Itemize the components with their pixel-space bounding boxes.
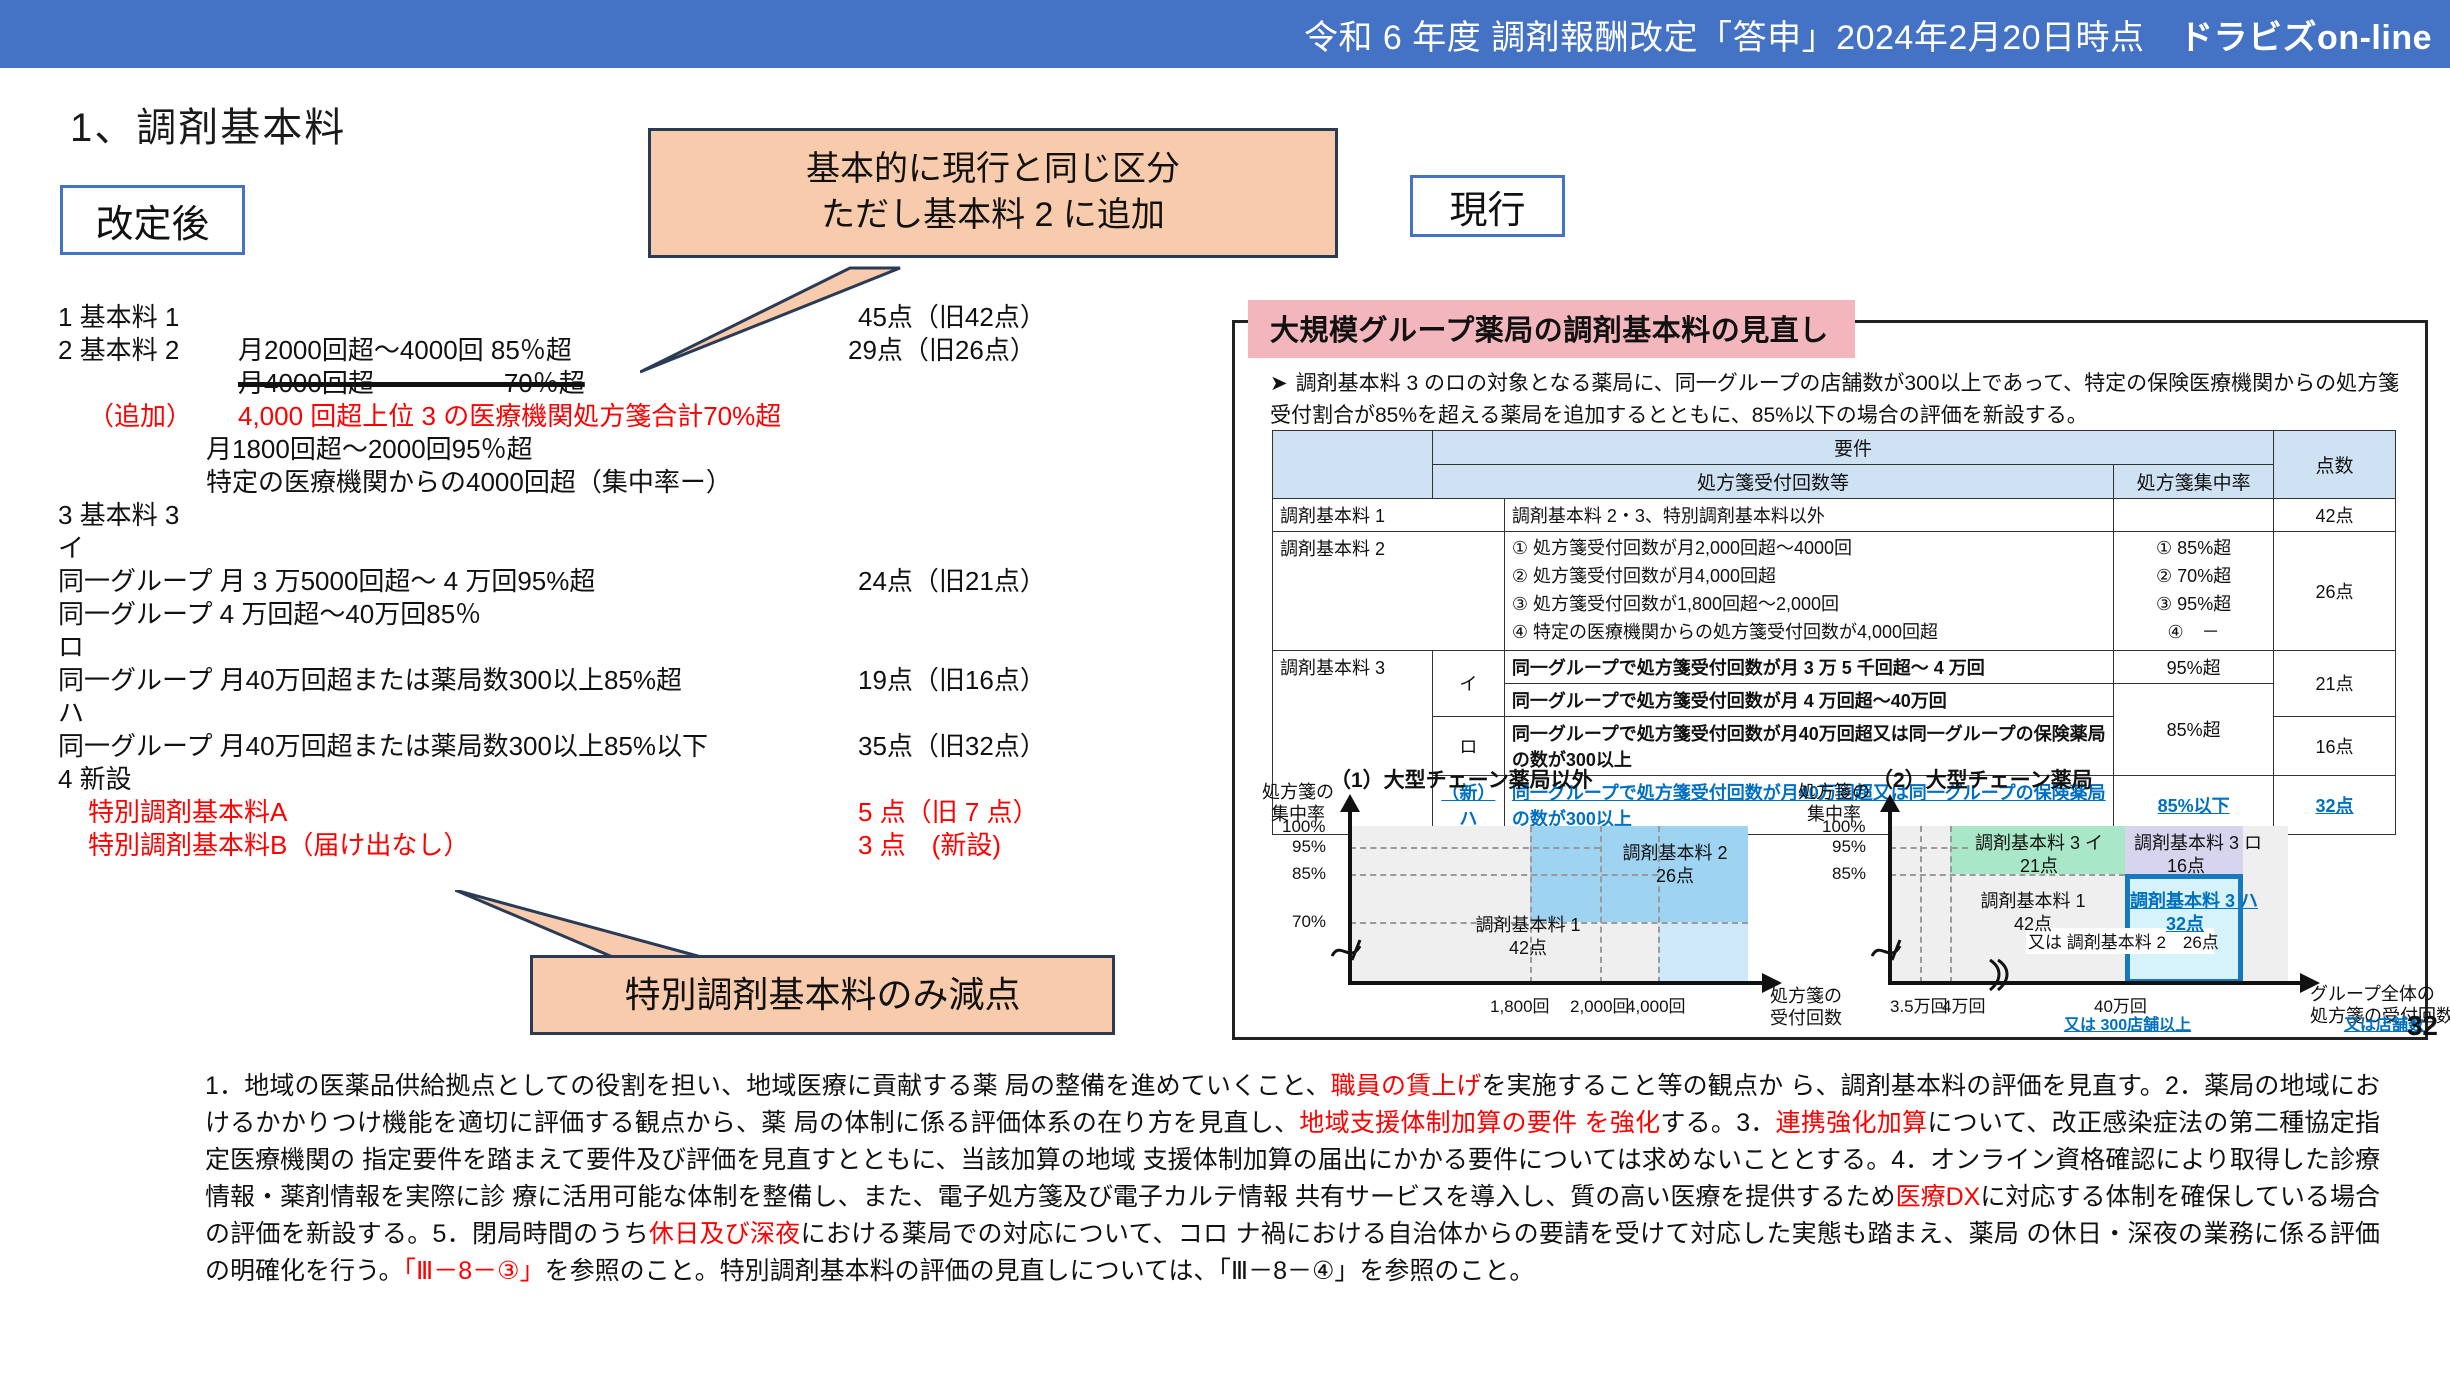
list-item: 特定の医療機関からの4000回超（集中率ー） bbox=[58, 462, 1188, 495]
region-label-3ha: 調剤基本料 3 ハ32点 bbox=[2130, 890, 2240, 935]
region-label-2: 調剤基本料 226点 bbox=[1610, 842, 1740, 887]
row-rate: 95%超 bbox=[2114, 650, 2274, 683]
th-requirement: 要件 bbox=[1432, 431, 2273, 465]
footer-highlight: 「Ⅲ－8－③」 bbox=[404, 1257, 545, 1285]
list-item: イ bbox=[58, 528, 1188, 561]
xtick: 3.5万回 bbox=[1890, 992, 1948, 1017]
chart1-title: （1）大型チェーン薬局以外 bbox=[1330, 764, 1593, 794]
row-name: 調剤基本料 1 bbox=[1273, 499, 1505, 532]
xtick: 1,800回 bbox=[1490, 992, 1550, 1017]
fee-list: 1 基本料 145点（旧42点） 2 基本料 2月2000回超〜4000回 85… bbox=[58, 297, 1188, 858]
ytick: 95% bbox=[1292, 837, 1326, 857]
right-panel-banner: 大規模グループ薬局の調剤基本料の見直し bbox=[1248, 300, 1855, 358]
ytick: 95% bbox=[1832, 837, 1866, 857]
arrow-bullet-icon: ➤ bbox=[1270, 372, 1288, 395]
footer-paragraph: 1．地域の医薬品供給拠点としての役割を担い、地域医療に貢献する薬 局の整備を進め… bbox=[205, 1068, 2380, 1290]
footer-text: 1．地域の医薬品供給拠点としての役割を担い、地域医療に貢献する薬 局の整備を進め… bbox=[205, 1072, 1331, 1100]
x-axis bbox=[1348, 981, 1766, 985]
rate-line: ③ 95%超 bbox=[2121, 591, 2266, 619]
points-value: 3 点 (新設) bbox=[858, 825, 1001, 862]
guide-1800 bbox=[1530, 826, 1532, 983]
th-points: 点数 bbox=[2274, 431, 2396, 499]
page-number: 32 bbox=[2407, 1010, 2438, 1042]
region-dotted bbox=[1658, 922, 1748, 983]
points-value: 29点（旧26点） bbox=[848, 330, 1036, 367]
row-condition-list: ① 処方箋受付回数が月2,000回超〜4000回 ② 処方箋受付回数が月4,00… bbox=[1504, 532, 2113, 651]
axis-break-icon bbox=[1330, 936, 1366, 964]
points-value: 5 点（旧 7 点） bbox=[858, 792, 1039, 829]
rate-line: ② 70%超 bbox=[2121, 563, 2266, 591]
list-item-added: （追加）4,000 回超上位 3 の医療機関処方箋合計70%超 bbox=[58, 396, 1188, 429]
list-item: 1 基本料 145点（旧42点） bbox=[58, 297, 1188, 330]
inset-note: 又は 調剤基本料 2 26点 bbox=[2028, 932, 2212, 953]
badge-current: 現行 bbox=[1410, 175, 1565, 237]
region-label-1b: 調剤基本料 142点 bbox=[1966, 890, 2100, 935]
header-banner: 令和 6 年度 調剤報酬改定「答申」2024年2月20日時点 ドラビズon-li… bbox=[0, 0, 2450, 68]
rate-line: ① 85%超 bbox=[2121, 535, 2266, 563]
header-title-main: 令和 6 年度 調剤報酬改定「答申」2024年2月20日時点 bbox=[1304, 19, 2179, 57]
list-item: 4 新設 bbox=[58, 759, 1188, 792]
list-item: ロ bbox=[58, 627, 1188, 660]
guide-95 bbox=[1350, 847, 1600, 849]
list-item: 同一グループ 月40万回超または薬局数300以上85%超19点（旧16点） bbox=[58, 660, 1188, 693]
axis-break-icon bbox=[1870, 936, 1906, 964]
list-item: 同一グループ 月40万回超または薬局数300以上85%以下35点（旧32点） bbox=[58, 726, 1188, 759]
chart-non-large-chain: （1）大型チェーン薬局以外 処方箋の集中率 100% 95% 85% 70% 1… bbox=[1258, 768, 1818, 1023]
bullet-body: 調剤基本料 3 のロの対象となる薬局に、同一グループの店舗数が300以上であって… bbox=[1270, 372, 2399, 427]
xtick-note: 又は 300店舗以上 bbox=[2064, 1011, 2191, 1035]
guide-2000 bbox=[1600, 826, 1602, 983]
cond-line: ④ 特定の医療機関からの処方箋受付回数が4,000回超 bbox=[1512, 619, 2106, 647]
y-axis-arrow-icon bbox=[1880, 794, 1900, 812]
xtick: 2,000回 bbox=[1570, 992, 1630, 1017]
ytick: 100% bbox=[1822, 817, 1865, 837]
region-label-1: 調剤基本料 142点 bbox=[1458, 914, 1598, 959]
list-item: 同一グループ 4 万回超〜40万回85％ bbox=[58, 594, 1188, 627]
table-row: 調剤基本料 1 調剤基本料 2・3、特別調剤基本料以外 42点 bbox=[1273, 499, 2396, 532]
callout-top: 基本的に現行と同じ区分 ただし基本料 2 に追加 bbox=[648, 128, 1338, 258]
region-label-3ro: 調剤基本料 3 ロ16点 bbox=[2134, 832, 2238, 877]
th-rate: 処方箋集中率 bbox=[2114, 465, 2274, 499]
header-title: 令和 6 年度 調剤報酬改定「答申」2024年2月20日時点 ドラビズon-li… bbox=[1304, 10, 2450, 59]
callout-bottom: 特別調剤基本料のみ減点 bbox=[530, 955, 1115, 1035]
list-item-new: 特別調剤基本料A5 点（旧 7 点） bbox=[58, 792, 1188, 825]
x-axis bbox=[1888, 981, 2306, 985]
row-name: 調剤基本料 2 bbox=[1273, 532, 1505, 651]
footer-highlight: 職員の賃上げ bbox=[1331, 1072, 1482, 1100]
badge-after-revision: 改定後 bbox=[60, 185, 245, 255]
row-points: 26点 bbox=[2274, 532, 2396, 651]
guide2-95 bbox=[1890, 847, 1968, 849]
points-value: 45点（旧42点） bbox=[858, 297, 1046, 334]
region-label-3i: 調剤基本料 3 イ21点 bbox=[1972, 832, 2106, 877]
points-value: 24点（旧21点） bbox=[858, 561, 1046, 598]
table-row: 調剤基本料 2 ① 処方箋受付回数が月2,000回超〜4000回 ② 処方箋受付… bbox=[1273, 532, 2396, 651]
footer-highlight: 医療DX bbox=[1896, 1183, 1981, 1211]
row-points: 42点 bbox=[2274, 499, 2396, 532]
cond-line: ① 処方箋受付回数が月2,000回超〜4000回 bbox=[1512, 535, 2106, 563]
page-title: 1、調剤基本料 bbox=[70, 95, 346, 153]
row-condition: 調剤基本料 2・3、特別調剤基本料以外 bbox=[1504, 499, 2113, 532]
chart2-title: （2）大型チェーン薬局 bbox=[1872, 764, 2093, 794]
row-rate: 85%超 bbox=[2114, 683, 2274, 775]
points-value: 19点（旧16点） bbox=[858, 660, 1046, 697]
list-item: 同一グループ 月 3 万5000回超〜 4 万回95%超24点（旧21点） bbox=[58, 561, 1188, 594]
row-rate-list: ① 85%超 ② 70%超 ③ 95%超 ④ － bbox=[2114, 532, 2274, 651]
row-rate bbox=[2114, 499, 2274, 532]
guide2-4man bbox=[1950, 826, 1952, 983]
rate-line: ④ － bbox=[2121, 619, 2266, 647]
footer-text: する。3． bbox=[1660, 1109, 1775, 1137]
points-value: 35点（旧32点） bbox=[858, 726, 1046, 763]
ytick: 70% bbox=[1292, 912, 1326, 932]
right-panel-bullet: ➤調剤基本料 3 のロの対象となる薬局に、同一グループの店舗数が300以上であっ… bbox=[1270, 368, 2410, 431]
list-item-strike: 月4000回超 70％超 bbox=[58, 363, 1188, 396]
xtick: 4万回 bbox=[1942, 992, 1985, 1017]
table-header-row: 要件 点数 bbox=[1273, 431, 2396, 465]
list-item: ハ bbox=[58, 693, 1188, 726]
list-item-new: 特別調剤基本料B（届け出なし）3 点 (新設) bbox=[58, 825, 1188, 858]
cond-line: ③ 処方箋受付回数が1,800回超〜2,000回 bbox=[1512, 591, 2106, 619]
ytick: 85% bbox=[1832, 864, 1866, 884]
slide-root: 令和 6 年度 調剤報酬改定「答申」2024年2月20日時点 ドラビズon-li… bbox=[0, 0, 2450, 1378]
row-points: 16点 bbox=[2274, 716, 2396, 775]
footer-highlight: 地域支援体制加算の要件 を強化 bbox=[1299, 1109, 1660, 1137]
row-condition: 同一グループで処方箋受付回数が月 3 万 5 千回超〜 4 万回 bbox=[1504, 650, 2113, 683]
callout-top-line2: ただし基本料 2 に追加 bbox=[821, 193, 1165, 239]
footer-highlight: 休日及び深夜 bbox=[649, 1220, 801, 1248]
y-axis-arrow-icon bbox=[1340, 794, 1360, 812]
ytick: 85% bbox=[1292, 864, 1326, 884]
th-count: 処方箋受付回数等 bbox=[1432, 465, 2113, 499]
guide2-35man bbox=[1920, 826, 1922, 983]
row-condition: 同一グループで処方箋受付回数が月 4 万回超〜40万回 bbox=[1504, 683, 2113, 716]
xtick: 4,000回 bbox=[1626, 992, 1686, 1017]
list-item: 3 基本料 3 bbox=[58, 495, 1188, 528]
table-row: 調剤基本料 3 イ 同一グループで処方箋受付回数が月 3 万 5 千回超〜 4 … bbox=[1273, 650, 2396, 683]
callout-top-line1: 基本的に現行と同じ区分 bbox=[806, 147, 1180, 193]
row-points: 21点 bbox=[2274, 650, 2396, 716]
footer-highlight: 連携強化加算 bbox=[1776, 1109, 1928, 1137]
ytick: 100% bbox=[1282, 817, 1325, 837]
header-brand: ドラビズon-line bbox=[2179, 19, 2432, 57]
row-sub: イ bbox=[1432, 650, 1504, 716]
cond-line: ② 処方箋受付回数が月4,000回超 bbox=[1512, 563, 2106, 591]
footer-text: を参照のこと。特別調剤基本料の評価の見直しについては、「Ⅲ－8－④」を参照のこと… bbox=[545, 1257, 1535, 1285]
list-item: 月1800回超〜2000回95％超 bbox=[58, 429, 1188, 462]
x-axis-break-icon bbox=[1986, 958, 2012, 992]
list-item: 2 基本料 2月2000回超〜4000回 85％超29点（旧26点） bbox=[58, 330, 1188, 363]
chart-large-chain: （2）大型チェーン薬局 処方箋の集中率 100% 95% 85% 3.5万回 4… bbox=[1838, 768, 2408, 1023]
table-header-row-2: 処方箋受付回数等 処方箋集中率 bbox=[1273, 465, 2396, 499]
